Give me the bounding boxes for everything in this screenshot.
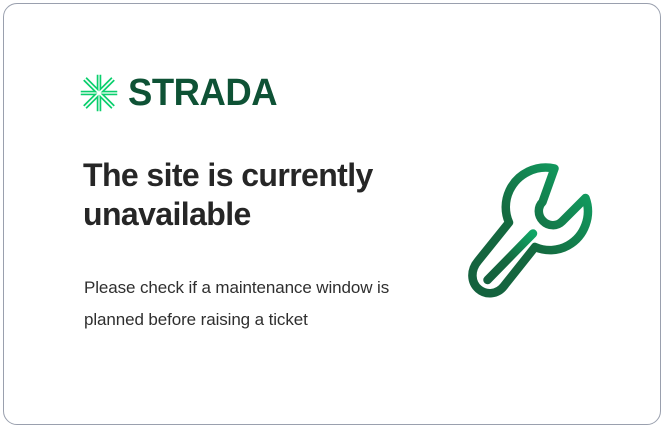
wrench-icon [459,156,611,312]
brand-wordmark: STRADA [128,74,277,112]
error-page: STRADA The site is currently unavailable… [0,0,666,436]
page-description: Please check if a maintenance window is … [84,272,394,336]
brand-lockup: STRADA [80,74,283,112]
page-title: The site is currently unavailable [83,156,433,234]
status-card: STRADA The site is currently unavailable… [3,3,661,425]
strada-asterisk-icon [80,74,118,112]
